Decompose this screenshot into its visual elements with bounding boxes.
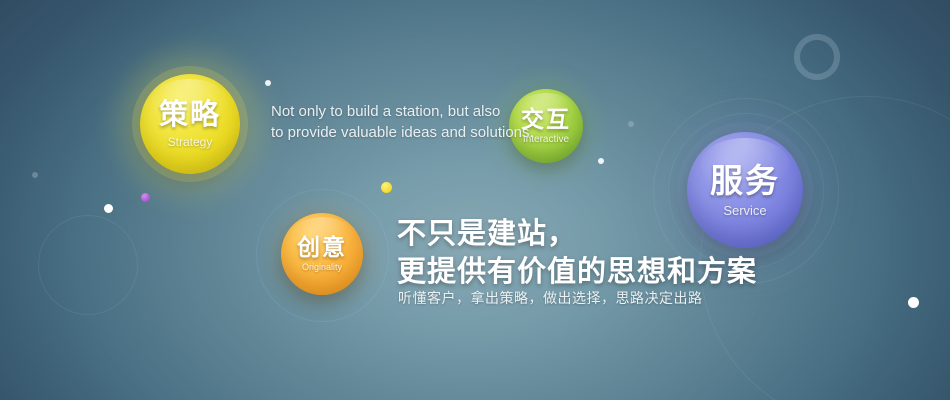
intro-text-line-2: to provide valuable ideas and solutions.: [271, 122, 501, 143]
bubble-strategy-en-label: Strategy: [168, 136, 213, 148]
decor-ring-top-right: [794, 34, 840, 80]
bubble-strategy-cn-label: 策略: [159, 101, 221, 130]
headline: 不只是建站， 更提供有价值的思想和方案: [397, 216, 757, 291]
gray-dot: [32, 172, 38, 178]
bubble-originality[interactable]: 创意 Originality: [281, 213, 363, 295]
subline: 听懂客户，拿出策略，做出选择，思路决定出路: [398, 288, 703, 308]
bubble-originality-en-label: Originality: [302, 263, 342, 272]
intro-text-line-1: Not only to build a station, but also: [271, 101, 501, 122]
headline-line-1: 不只是建站，: [397, 216, 757, 254]
decor-ring-left: [38, 215, 138, 315]
white-dot-left: [104, 204, 113, 213]
yellow-dot: [381, 182, 392, 193]
white-dot-right: [908, 297, 919, 308]
headline-line-2: 更提供有价值的思想和方案: [397, 254, 757, 292]
banner-stage: 策略 Strategy 交互 Interactive 创意 Originalit…: [0, 0, 950, 400]
purple-dot: [141, 193, 150, 202]
bubble-service-en-label: Service: [723, 204, 766, 217]
white-dot-mid: [598, 158, 604, 164]
white-dot-top: [265, 80, 271, 86]
faint-dot-right: [628, 121, 634, 127]
intro-text: Not only to build a station, but also to…: [271, 101, 501, 144]
bubble-strategy[interactable]: 策略 Strategy: [140, 74, 240, 174]
bubble-originality-cn-label: 创意: [297, 236, 347, 259]
bubble-service-cn-label: 服务: [710, 164, 780, 197]
